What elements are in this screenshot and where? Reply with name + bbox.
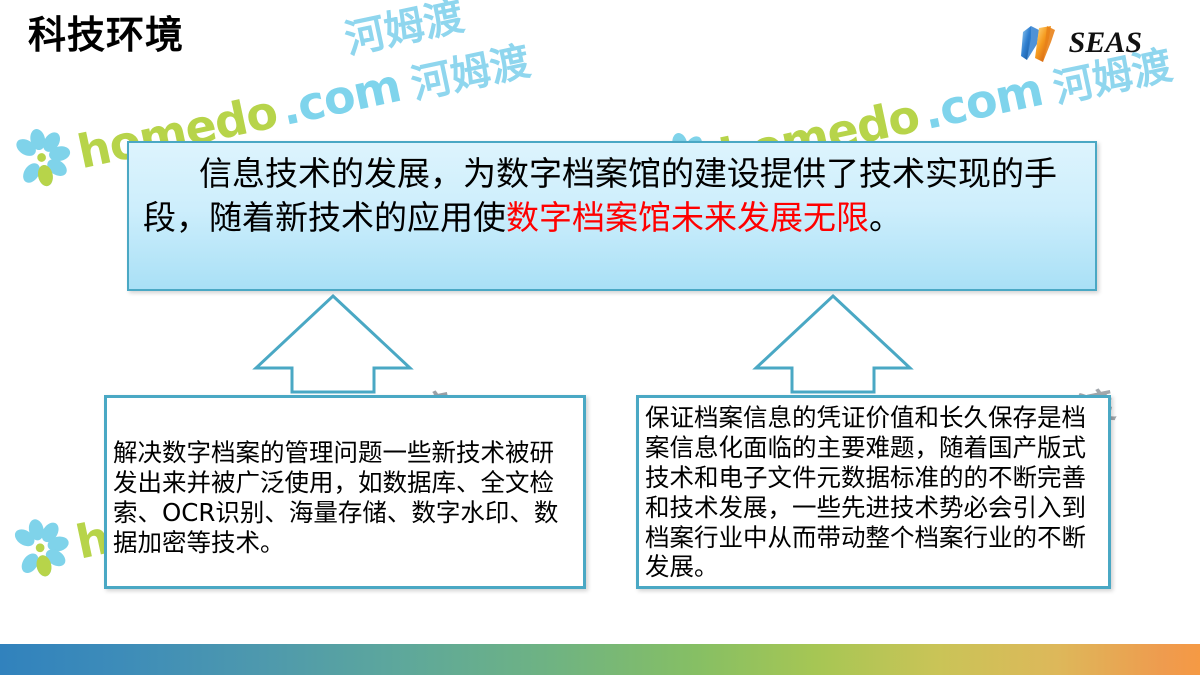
homedo-flower-icon (3, 511, 78, 589)
watermark-com-text: .com (918, 62, 1047, 140)
bottom-box-left: 解决数字档案的管理问题一些新技术被研发出来并被广泛使用，如数据库、全文检索、OC… (104, 395, 586, 589)
watermark-com-text: .com (276, 58, 405, 136)
watermark-cn-top-left: 河姆渡 (339, 0, 468, 65)
top-callout-text-highlight: 数字档案馆未来发展无限 (506, 198, 869, 237)
arrow-up-right (748, 292, 918, 394)
brand-logo: SEAS (1017, 18, 1142, 68)
bottom-gradient-bar (0, 644, 1200, 675)
arrow-up-left (248, 292, 418, 394)
seas-logo-icon (1017, 18, 1069, 68)
watermark-homedo-top-left: homedo .com 河姆渡 (6, 78, 534, 145)
page-title: 科技环境 (28, 16, 184, 58)
top-callout-text: 信息技术的发展，为数字档案馆的建设提供了技术实现的手段，随着新技术的应用使数字档… (143, 152, 1081, 240)
bottom-box-left-text: 解决数字档案的管理问题一些新技术被研发出来并被广泛使用，如数据库、全文检索、OC… (107, 398, 583, 558)
watermark-cn-text: 河姆渡 (405, 28, 534, 110)
slide-canvas: homedo .com 河姆渡 (0, 0, 1200, 675)
homedo-flower-icon (5, 121, 80, 199)
bottom-box-right-text: 保证档案信息的凭证价值和长久保存是档案信息化面临的主要难题，随着国产版式技术和电… (639, 398, 1108, 582)
top-callout-box: 信息技术的发展，为数字档案馆的建设提供了技术实现的手段，随着新技术的应用使数字档… (127, 141, 1097, 291)
brand-name: SEAS (1069, 28, 1142, 58)
watermark-homedo-top-center: homedo .com 河姆渡 (648, 82, 1176, 149)
bottom-box-right: 保证档案信息的凭证价值和长久保存是档案信息化面临的主要难题，随着国产版式技术和电… (636, 395, 1111, 589)
top-callout-text-tail: 。 (869, 198, 902, 237)
